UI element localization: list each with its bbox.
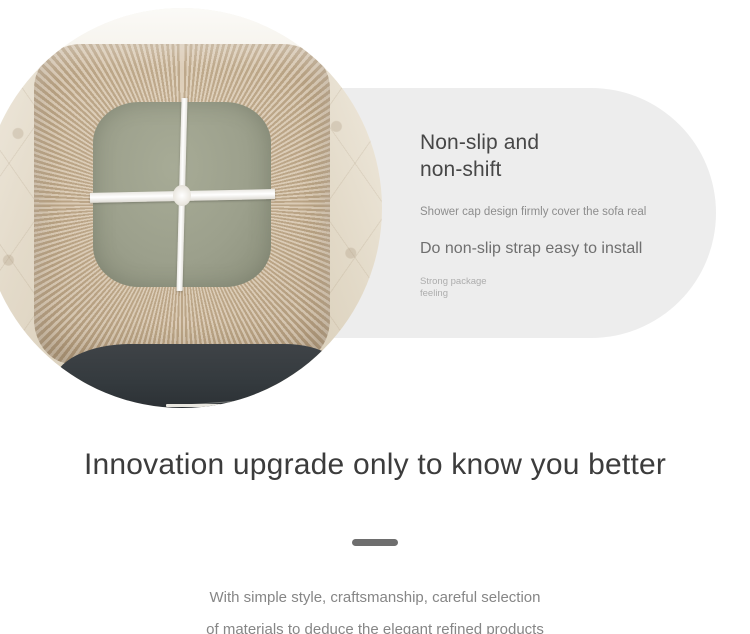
section-subtext-line1: With simple style, craftsmanship, carefu…	[0, 582, 750, 614]
feature-headline-line1: Non-slip and	[420, 131, 539, 154]
divider-dash	[352, 539, 398, 546]
hero-section: Non-slip andnon-shift Shower cap design …	[0, 0, 750, 425]
feature-subtext-tiny-line2: feeling	[420, 288, 448, 299]
panel-copy: Non-slip andnon-shift Shower cap design …	[420, 130, 700, 300]
feature-subtext-large: Do non-slip strap easy to install	[420, 238, 700, 260]
section-title: Innovation upgrade only to know you bett…	[0, 448, 750, 482]
sofa-cushion-cover-photo	[0, 8, 382, 408]
feature-headline: Non-slip andnon-shift	[420, 130, 700, 184]
section-subtext-line2: of materials to deduce the elegant refin…	[0, 614, 750, 634]
floor-tag-label	[166, 404, 231, 407]
section-subtext: With simple style, craftsmanship, carefu…	[0, 582, 750, 634]
feature-subtext-tiny-line1: Strong package	[420, 276, 487, 287]
feature-subtext-tiny: Strong packagefeeling	[420, 276, 700, 300]
feature-subtext-small: Shower cap design firmly cover the sofa …	[420, 204, 700, 220]
photo-scene	[0, 8, 382, 408]
green-seat-panel	[93, 102, 271, 288]
strap-knot	[173, 185, 191, 205]
dark-floor-surface	[54, 344, 350, 408]
feature-headline-line2: non-shift	[420, 158, 501, 181]
stretch-cushion-cover	[34, 44, 330, 364]
product-feature-banner: Non-slip andnon-shift Shower cap design …	[0, 0, 750, 634]
lower-section: Innovation upgrade only to know you bett…	[0, 425, 750, 634]
